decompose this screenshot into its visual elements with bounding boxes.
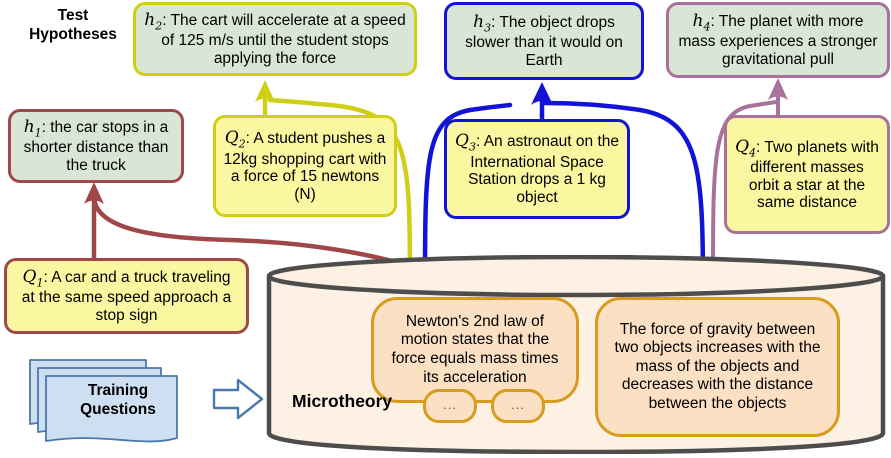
edge-q4-h4-arrowhead [768, 78, 788, 100]
question-q3-var: Q3 [455, 131, 476, 151]
diagram-canvas: Test Hypotheses h2: The cart wi [0, 0, 891, 458]
fact-ellipsis-1-text: ... [443, 397, 457, 412]
hypothesis-h4-text-wrap: h4: The planet with more mass experience… [676, 12, 880, 68]
hypothesis-h3-var: h3 [473, 12, 491, 32]
question-q3-text: : An astronaut on the International Spac… [468, 133, 619, 205]
hypothesis-h2-text-wrap: h2: The cart will accelerate at a speed … [143, 11, 407, 67]
question-q2-var: Q2 [225, 128, 246, 148]
test-hypotheses-label-line1: Test [12, 6, 134, 25]
cylinder-top-ellipse [269, 257, 883, 295]
edge-q1-h1-arrowhead [84, 182, 104, 204]
fact-box-newtons-second-law[interactable]: Newton's 2nd law of motion states that t… [371, 297, 579, 403]
question-box-q4[interactable]: Q4: Two planets with different masses or… [724, 115, 890, 234]
fact-ellipsis-2-text: ... [511, 397, 525, 412]
question-q4-text-wrap: Q4: Two planets with different masses or… [734, 138, 880, 212]
hypothesis-h1-sub: 1 [35, 126, 42, 139]
training-questions-label: Training Questions [48, 382, 188, 419]
edge-q3-h3-arrowhead [531, 82, 553, 105]
hypothesis-box-h3[interactable]: h3: The object drops slower than it woul… [444, 2, 644, 80]
question-q4-text: : Two planets with different masses orbi… [749, 139, 879, 211]
question-q2-text: : A student pushes a 12kg shopping cart … [224, 130, 387, 202]
question-box-q2[interactable]: Q2: A student pushes a 12kg shopping car… [213, 115, 397, 217]
fact-newton-text: Newton's 2nd law of motion states that t… [382, 313, 568, 387]
hypothesis-box-h2[interactable]: h2: The cart will accelerate at a speed … [133, 2, 417, 76]
test-hypotheses-label: Test Hypotheses [12, 6, 134, 45]
hypothesis-h1-var: h1 [24, 117, 42, 137]
training-questions-label-line1: Training [48, 382, 188, 401]
fact-gravity-text: The force of gravity between two objects… [606, 321, 829, 414]
edge-q2-h2-arrowhead [255, 80, 275, 102]
training-questions-label-line2: Questions [48, 401, 188, 420]
fact-ellipsis-2[interactable]: ... [491, 389, 545, 423]
question-q3-sub: 3 [469, 141, 476, 154]
question-q2-sub: 2 [239, 138, 246, 151]
question-q2-text-wrap: Q2: A student pushes a 12kg shopping car… [223, 129, 387, 203]
fact-ellipsis-1[interactable]: ... [423, 389, 477, 423]
edge-training-to-microtheory [214, 380, 262, 418]
question-q3-text-wrap: Q3: An astronaut on the International Sp… [454, 132, 620, 206]
hypothesis-h1-text-wrap: h1: the car stops in a shorter distance … [18, 118, 174, 174]
hypothesis-h2-text: : The cart will accelerate at a speed of… [161, 12, 405, 67]
question-q4-var: Q4 [735, 137, 756, 157]
microtheory-label: Microtheory [292, 391, 392, 412]
question-box-q3[interactable]: Q3: An astronaut on the International Sp… [444, 119, 630, 219]
microtheory-cylinder[interactable]: Newton's 2nd law of motion states that t… [265, 255, 887, 454]
hypothesis-h1-text: : the car stops in a shorter distance th… [24, 119, 169, 174]
hypothesis-h3-text-wrap: h3: The object drops slower than it woul… [454, 13, 634, 69]
question-q1-text: : A car and a truck traveling at the sam… [22, 269, 231, 324]
training-questions-stack[interactable]: Training Questions [22, 358, 212, 450]
question-q1-text-wrap: Q1: A car and a truck traveling at the s… [14, 268, 239, 324]
question-q1-var: Q1 [23, 267, 44, 287]
hypothesis-h2-var: h2 [144, 10, 162, 30]
test-hypotheses-label-line2: Hypotheses [12, 25, 134, 44]
hypothesis-h4-var: h4 [692, 11, 710, 31]
fact-box-gravity[interactable]: The force of gravity between two objects… [595, 297, 840, 437]
hypothesis-box-h1[interactable]: h1: the car stops in a shorter distance … [8, 109, 184, 183]
question-q4-sub: 4 [749, 146, 756, 159]
hypothesis-box-h4[interactable]: h4: The planet with more mass experience… [666, 2, 890, 78]
question-box-q1[interactable]: Q1: A car and a truck traveling at the s… [4, 258, 249, 334]
